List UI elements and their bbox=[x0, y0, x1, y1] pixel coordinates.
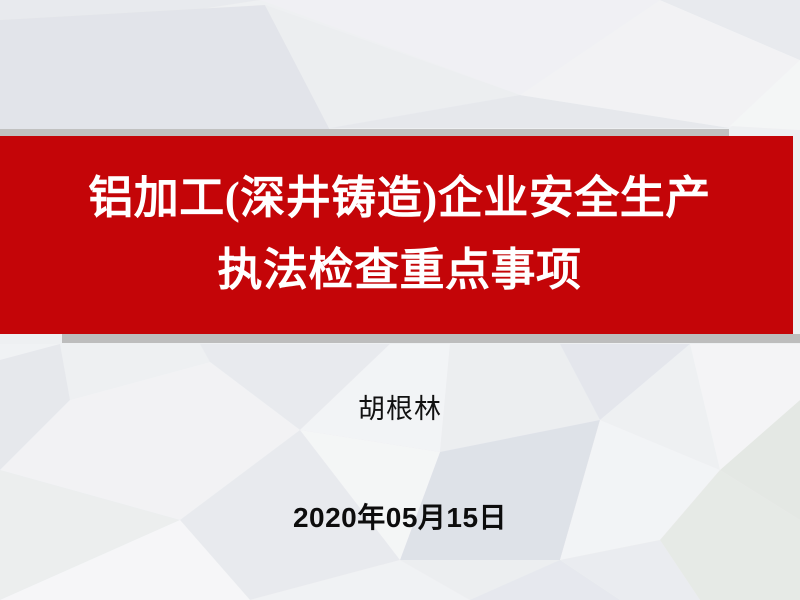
title-line-1: 铝加工(深井铸造)企业安全生产 bbox=[88, 176, 710, 222]
banner-shadow-bottom bbox=[62, 334, 800, 343]
banner-shadow-top bbox=[0, 129, 729, 136]
presentation-date: 2020年05月15日 bbox=[0, 496, 800, 536]
title-line-2: 执法检查重点事项 bbox=[217, 248, 581, 294]
presenter-name: 胡根林 bbox=[0, 387, 800, 426]
title-slide: 铝加工(深井铸造)企业安全生产 执法检查重点事项 胡根林 2020年05月15日 bbox=[0, 0, 800, 600]
title-banner: 铝加工(深井铸造)企业安全生产 执法检查重点事项 bbox=[0, 136, 793, 334]
